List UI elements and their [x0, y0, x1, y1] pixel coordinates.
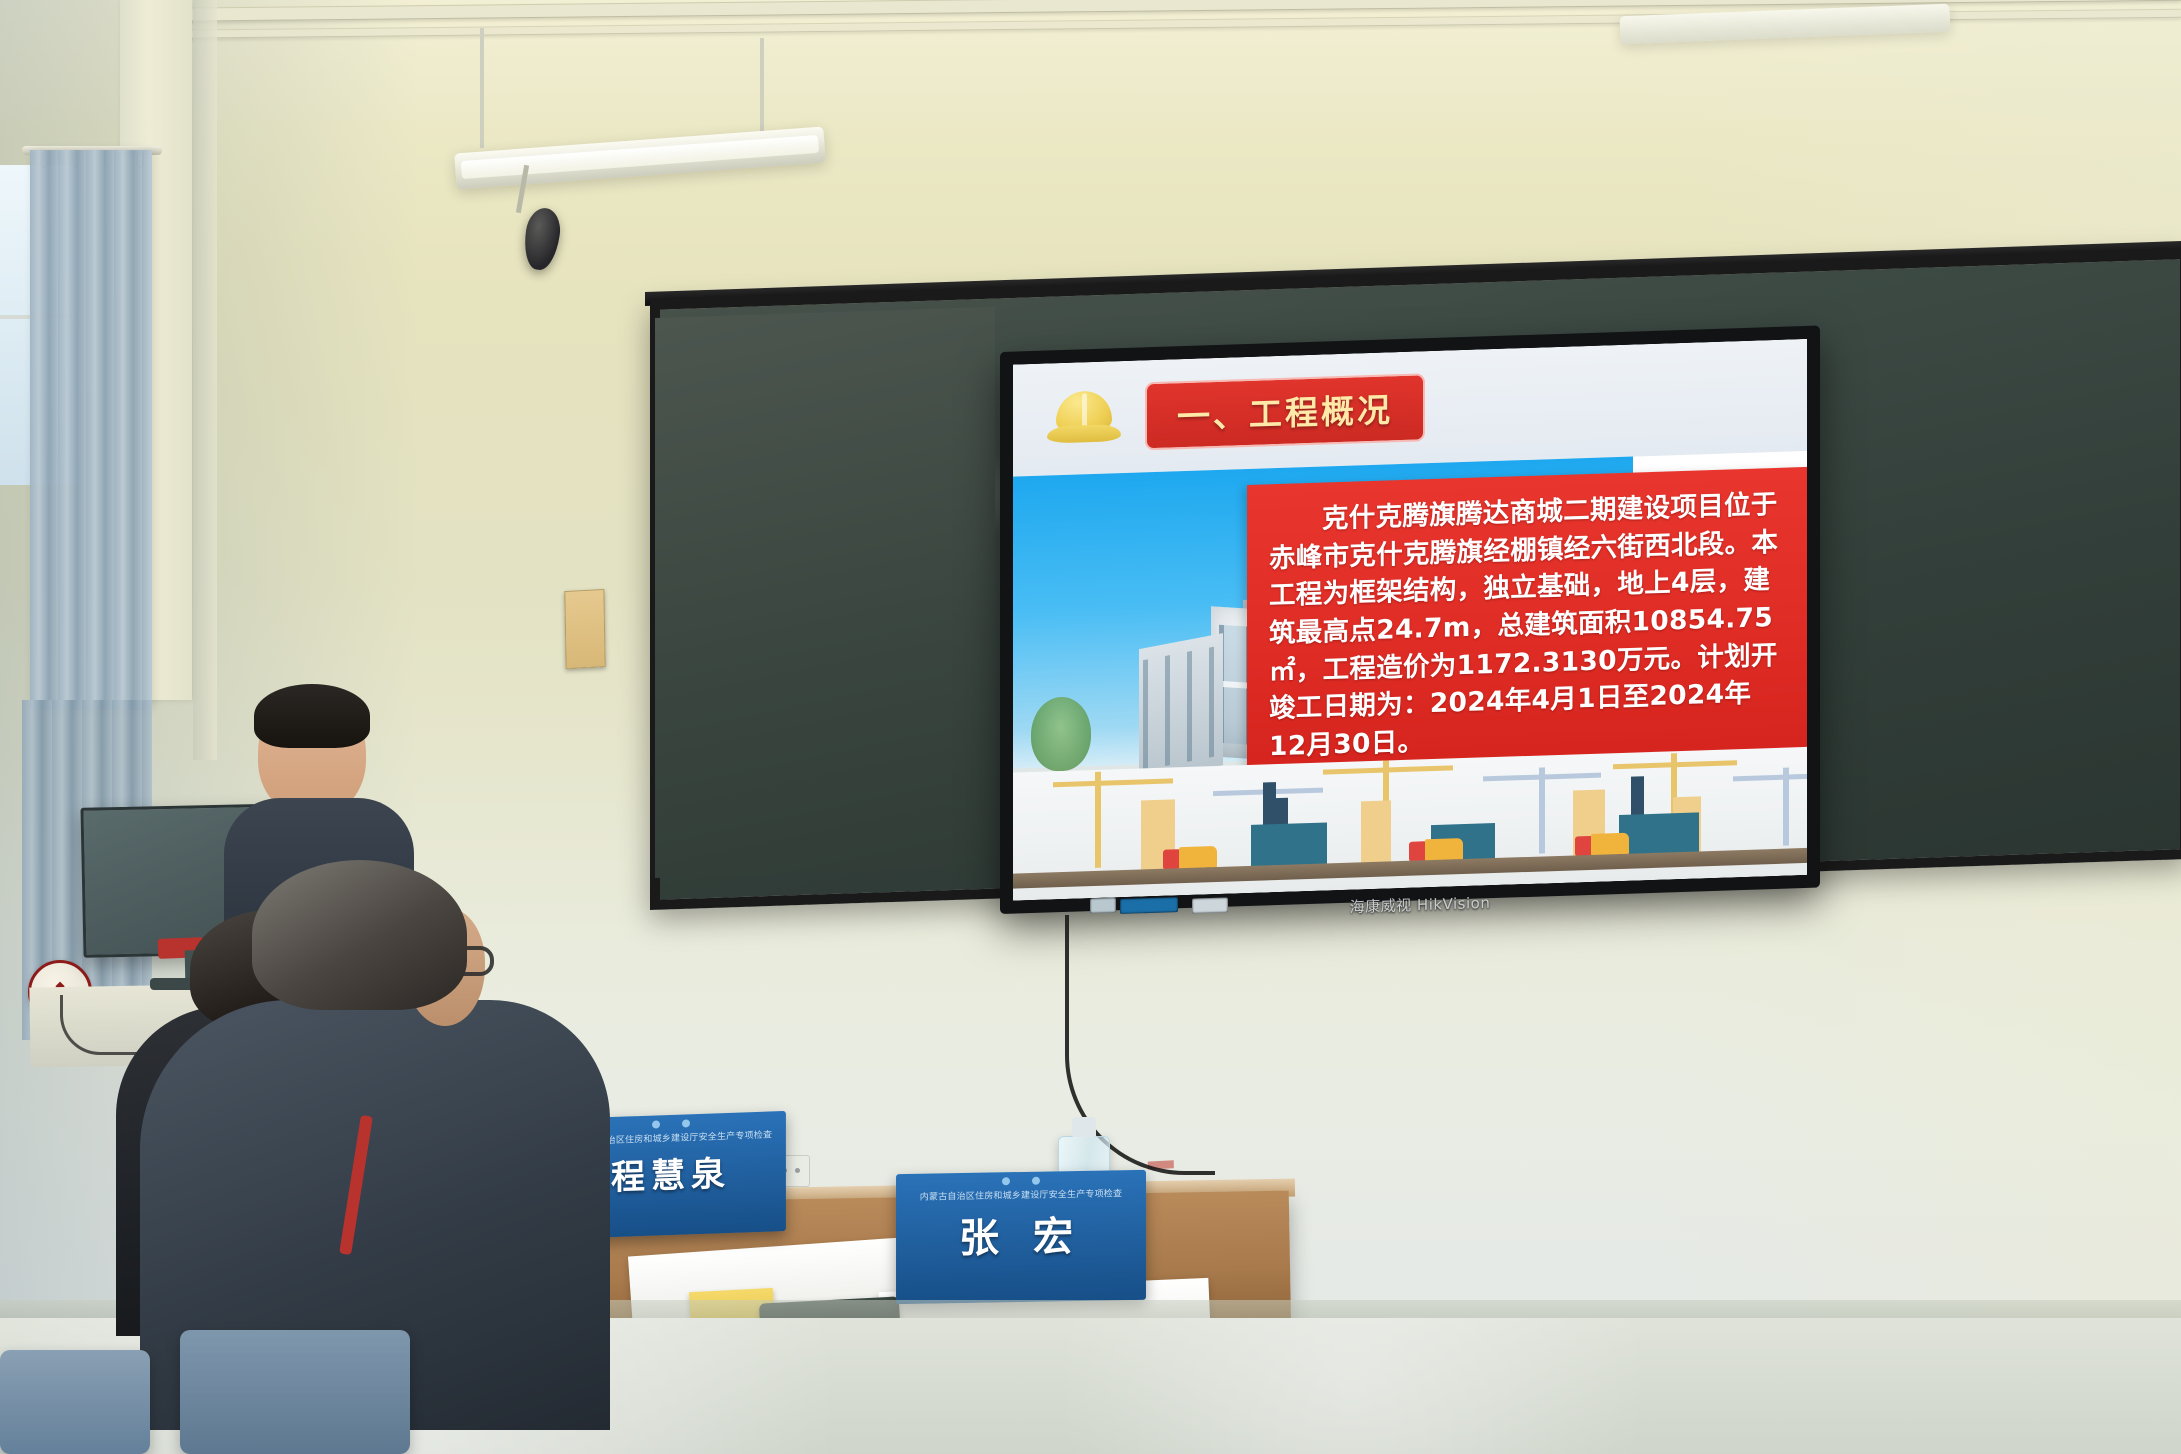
presenter-hair [254, 684, 370, 748]
nameplate-name: 张 宏 [896, 1203, 1146, 1265]
nameplate-2: 内蒙古自治区住房和城乡建设厅安全生产专项检查 张 宏 [896, 1170, 1146, 1304]
slide-title: 一、工程概况 [1145, 373, 1425, 450]
slide-body: 克什克腾旗腾达商城二期建设项目位于赤峰市克什克腾旗经棚镇经六街西北段。本工程为框… [1013, 451, 1807, 901]
presentation-slide: 一、工程概况 [1013, 339, 1807, 901]
org-logo-icon [682, 1119, 690, 1127]
bottle-cap [1072, 1117, 1096, 1137]
hard-hat-brim [1047, 424, 1121, 443]
org-logo-icon [1002, 1177, 1010, 1185]
interactive-display[interactable]: 一、工程概况 [1000, 326, 1820, 914]
building-left-glazing [1143, 646, 1217, 770]
org-logo-icon [1032, 1177, 1040, 1185]
nameplate-org: 内蒙古自治区住房和城乡建设厅安全生产专项检查 [896, 1186, 1146, 1203]
lamp-drop-rod [480, 28, 484, 148]
wall-notice-card [564, 589, 605, 669]
chair [180, 1330, 410, 1454]
wall-pilaster-edge [193, 0, 217, 760]
hard-hat-ridge [1082, 393, 1087, 429]
project-overview-panel: 克什克腾旗腾达商城二期建设项目位于赤峰市克什克腾旗经棚镇经六街西北段。本工程为框… [1247, 467, 1807, 785]
hard-hat-icon [1047, 390, 1121, 446]
display-port-hdmi[interactable] [1120, 897, 1178, 914]
display-screen[interactable]: 一、工程概况 [1013, 339, 1807, 901]
silo-icon [1361, 800, 1391, 865]
site-shed-icon [1251, 822, 1327, 868]
org-logo-icon [652, 1120, 660, 1128]
display-port-usb[interactable] [1090, 898, 1116, 914]
construction-illustration-strip [1013, 747, 1807, 901]
crane-icon [1733, 766, 1807, 847]
project-overview-paragraph-1: 克什克腾旗腾达商城二期建设项目位于赤峰市克什克腾旗经棚镇经六街西北段。本工程为框… [1269, 486, 1787, 766]
chair [0, 1350, 150, 1454]
display-port-aux[interactable] [1192, 897, 1228, 913]
window-curtain [30, 150, 152, 710]
photo-scene: ❖ 一、工程概况 [0, 0, 2181, 1454]
render-tree [1031, 696, 1091, 772]
blackboard-left-panel [655, 307, 995, 878]
lamp-drop-rod [760, 38, 764, 134]
nameplate-logo-row [896, 1175, 1146, 1187]
attendee-back-hair [252, 860, 467, 1010]
